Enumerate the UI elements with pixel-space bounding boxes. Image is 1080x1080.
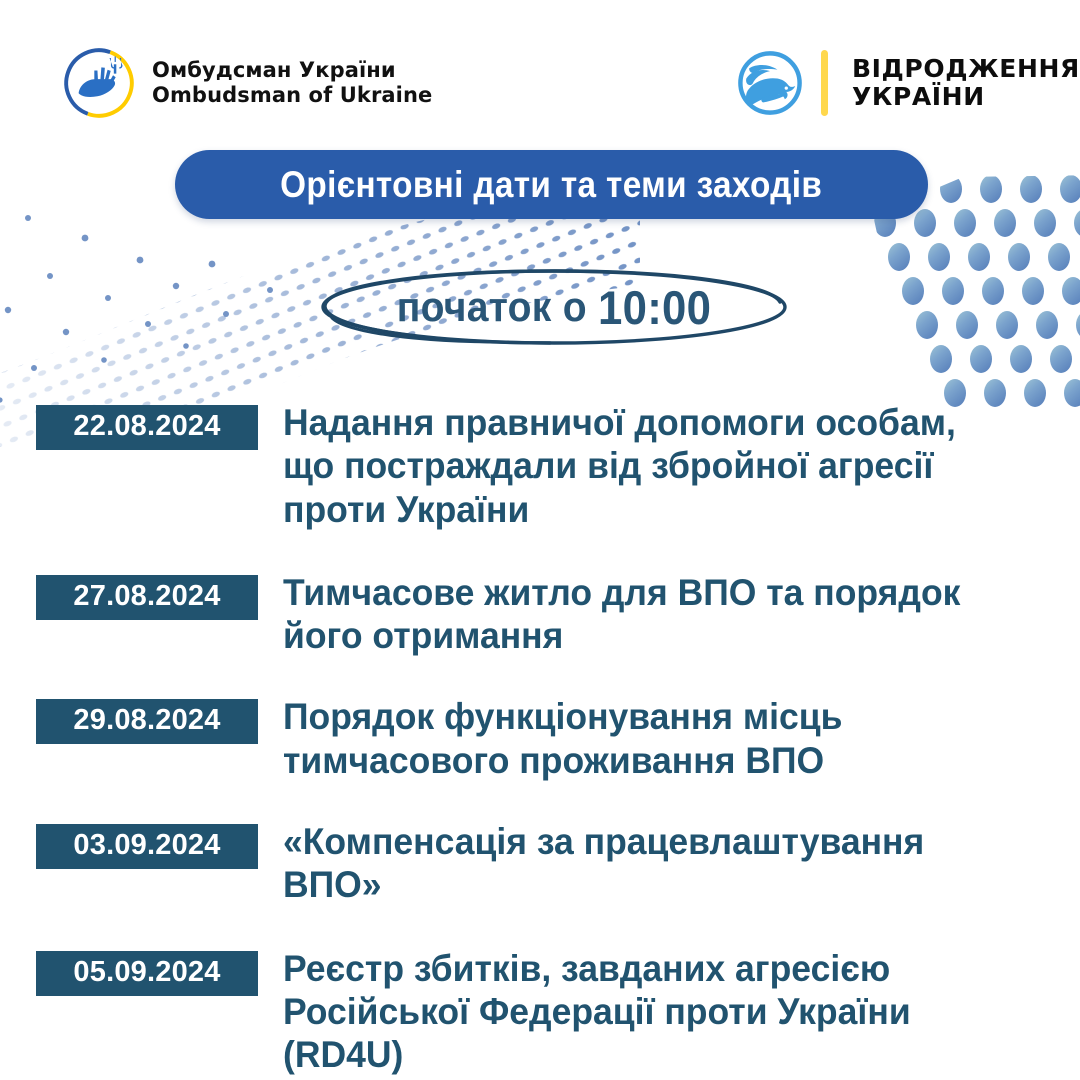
schedule-topic: Реєстр збитків, завданих агресією Російс… (283, 947, 1014, 1077)
ombudsman-hand-dove-emblem-icon (60, 44, 138, 122)
ombudsman-logo-line-uk: Омбудсман України (152, 58, 432, 83)
revival-logo: ВІДРОДЖЕННЯ УКРАЇНИ (733, 46, 1080, 120)
start-time-text: початок о 10:00 (335, 266, 774, 348)
schedule-list: 22.08.2024 Надання правничої допомоги ос… (0, 405, 1080, 1076)
date-badge: 27.08.2024 (36, 575, 258, 620)
schedule-item: 27.08.2024 Тимчасове житло для ВПО та по… (0, 575, 1080, 658)
date-badge: 29.08.2024 (36, 699, 258, 744)
schedule-topic: «Компенсація за працевлаштування ВПО» (283, 820, 1014, 907)
schedule-item: 29.08.2024 Порядок функціонування місць … (0, 699, 1080, 782)
schedule-topic: Тимчасове житло для ВПО та порядок його … (283, 571, 1014, 658)
start-time-label: початок о (397, 283, 587, 331)
page-title: Орієнтовні дати та теми заходів (280, 164, 822, 206)
date-badge: 22.08.2024 (36, 405, 258, 450)
date-badge: 05.09.2024 (36, 951, 258, 996)
schedule-topic: Порядок функціонування місць тимчасового… (283, 695, 1014, 782)
revival-logo-line-2: УКРАЇНИ (852, 83, 1080, 111)
poster-canvas: Омбудсман України Ombudsman of Ukraine В… (0, 0, 1080, 1080)
revival-bird-emblem-icon (733, 46, 807, 120)
schedule-topic: Надання правничої допомоги особам, що по… (283, 401, 1014, 531)
revival-logo-divider (821, 50, 828, 116)
schedule-item: 05.09.2024 Реєстр збитків, завданих агре… (0, 951, 1080, 1077)
schedule-item: 03.09.2024 «Компенсація за працевлаштува… (0, 824, 1080, 907)
ombudsman-logo: Омбудсман України Ombudsman of Ukraine (60, 44, 432, 122)
title-banner: Орієнтовні дати та теми заходів (175, 150, 928, 219)
schedule-item: 22.08.2024 Надання правничої допомоги ос… (0, 405, 1080, 531)
start-time-block: початок о 10:00 (318, 266, 790, 348)
start-time-value: 10:00 (598, 280, 711, 335)
poster-header: Омбудсман України Ombudsman of Ukraine В… (0, 0, 1080, 150)
revival-logo-line-1: ВІДРОДЖЕННЯ (852, 55, 1080, 83)
date-badge: 03.09.2024 (36, 824, 258, 869)
ombudsman-logo-line-en: Ombudsman of Ukraine (152, 83, 432, 108)
